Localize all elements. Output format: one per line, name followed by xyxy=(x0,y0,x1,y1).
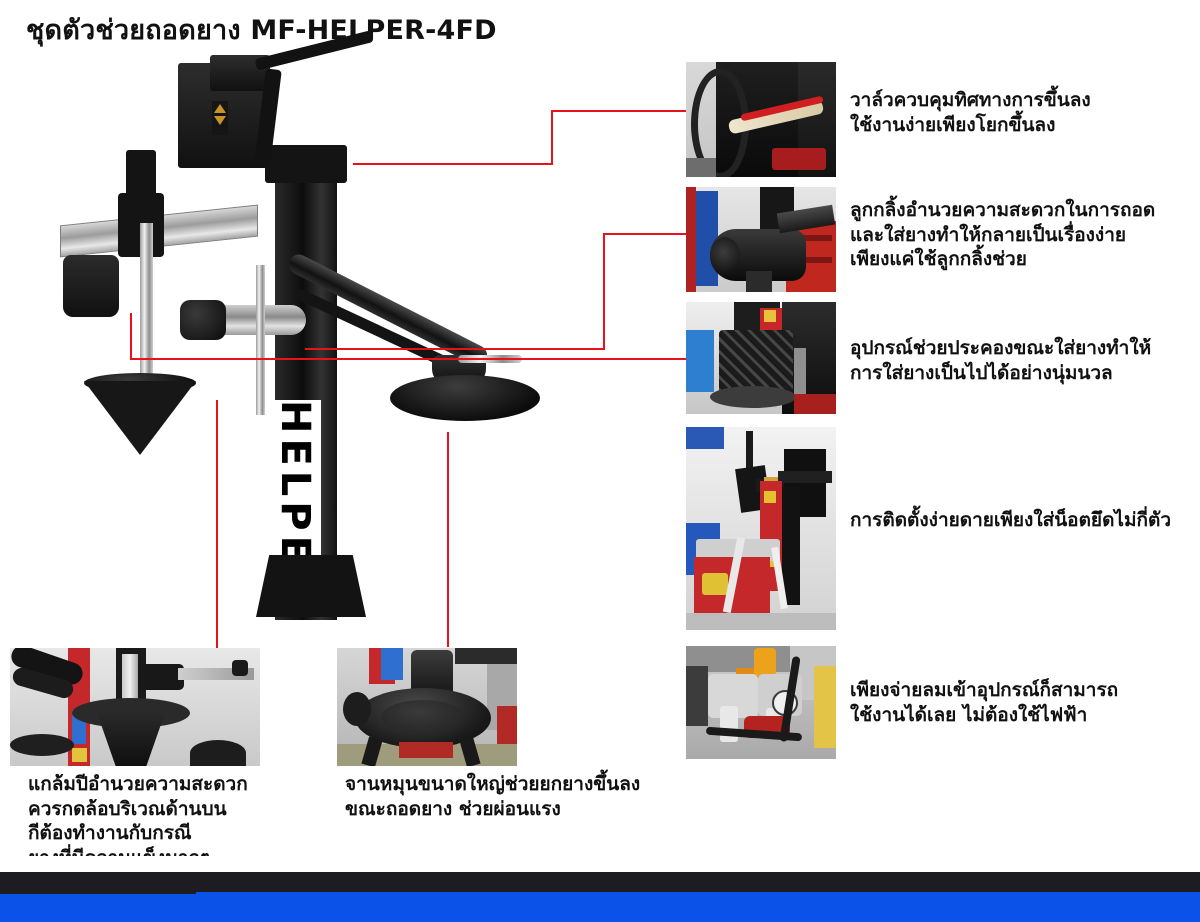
caption-line: ขณะถอดยาง ช่วยผ่อนแรง xyxy=(345,797,685,822)
callout-line-valve-h1 xyxy=(353,163,553,165)
feature-caption-air: เพียงจ่ายลมเข้าอุปกรณ์ก็สามารถ ใช้งานได้… xyxy=(850,678,1195,727)
callout-line-support-h xyxy=(130,358,686,360)
caption-line: ใช้งานได้เลย ไม่ต้องใช้ไฟฟ้า xyxy=(850,703,1195,728)
callout-line-roller-v xyxy=(603,233,605,350)
callout-line-turntable-v xyxy=(447,432,449,647)
caption-line: วาล์วควบคุมทิศทางการขึ้นลง xyxy=(850,88,1190,113)
machine-center-rod xyxy=(256,265,265,415)
full-tire-changer-installed-photo xyxy=(686,427,836,630)
caption-line: เพียงจ่ายลมเข้าอุปกรณ์ก็สามารถ xyxy=(850,678,1195,703)
machine-upper-bracket xyxy=(265,145,347,183)
bead-support-plate-photo xyxy=(686,302,836,414)
caption-line: ลูกกลิ้งอำนวยความสะดวกในการถอด xyxy=(850,198,1195,223)
caption-line: กีต้องทำงานกับกรณี xyxy=(28,821,308,846)
feature-caption-support: อุปกรณ์ช่วยประคองขณะใส่ยางทำให้ การใส่ยา… xyxy=(850,336,1195,385)
callout-line-valve-h2 xyxy=(551,110,686,112)
footer-blue-bar xyxy=(0,892,1200,922)
up-down-arrow-decal xyxy=(212,101,228,135)
footer-white-notch xyxy=(0,856,248,872)
caption-line: การติดตั้งง่ายดายเพียงใส่น็อตยึดไม่กี่ตั… xyxy=(850,508,1195,533)
feature-caption-roller: ลูกกลิ้งอำนวยความสะดวกในการถอด และใส่ยาง… xyxy=(850,198,1195,272)
roller-closeup-photo xyxy=(686,187,836,292)
caption-line: แกล้มปีอำนวยความสะดวก xyxy=(28,772,308,797)
large-turntable-disc-photo xyxy=(337,648,517,766)
machine-roller-head xyxy=(180,300,226,340)
feature-caption-valve: วาล์วควบคุมทิศทางการขึ้นลง ใช้งานง่ายเพี… xyxy=(850,88,1190,137)
caption-line: ใช้งานง่ายเพียงโยกขึ้นลง xyxy=(850,113,1190,138)
cone-press-tool-photo xyxy=(10,648,260,766)
machine-base-foot xyxy=(256,555,366,617)
machine-chrome-shaft xyxy=(140,223,153,391)
callout-line-roller-h2 xyxy=(603,233,686,235)
helper-brand-plate: HELPER xyxy=(275,400,321,570)
callout-line-roller-h1 xyxy=(305,348,605,350)
caption-line: จานหมุนขนาดใหญ่ช่วยยกยางขึ้นลง xyxy=(345,772,685,797)
valve-control-closeup-photo xyxy=(686,62,836,177)
callout-line-cone-v xyxy=(216,400,218,650)
feature-caption-install: การติดตั้งง่ายดายเพียงใส่น็อตยึดไม่กี่ตั… xyxy=(850,508,1195,533)
caption-line: ควรกดล้อบริเวณด้านบน xyxy=(28,797,308,822)
cone-press-tip xyxy=(84,381,196,455)
machine-side-pad xyxy=(63,255,119,317)
bottom-caption-turntable: จานหมุนขนาดใหญ่ช่วยยกยางขึ้นลง ขณะถอดยาง… xyxy=(345,772,685,821)
caption-line: และใส่ยางทำให้กลายเป็นเรื่องง่าย xyxy=(850,223,1195,248)
machine-arm-clamp-top xyxy=(126,150,156,206)
machine-press-disc xyxy=(390,375,540,421)
caption-line: การใส่ยางเป็นไปได้อย่างนุ่มนวล xyxy=(850,361,1195,386)
footer-dark-notch xyxy=(0,872,196,894)
mf-helper-4fd-main-product-photo: HELPER 4FD xyxy=(60,55,620,655)
page-title: ชุดตัวช่วยถอดยาง MF-HELPER-4FD xyxy=(26,8,497,51)
caption-line: เพียงแค่ใช้ลูกกลิ้งช่วย xyxy=(850,247,1195,272)
caption-line: อุปกรณ์ช่วยประคองขณะใส่ยางทำให้ xyxy=(850,336,1195,361)
callout-line-support-v xyxy=(130,313,132,359)
callout-line-valve-v xyxy=(551,110,553,165)
air-regulator-unit-photo xyxy=(686,646,836,759)
